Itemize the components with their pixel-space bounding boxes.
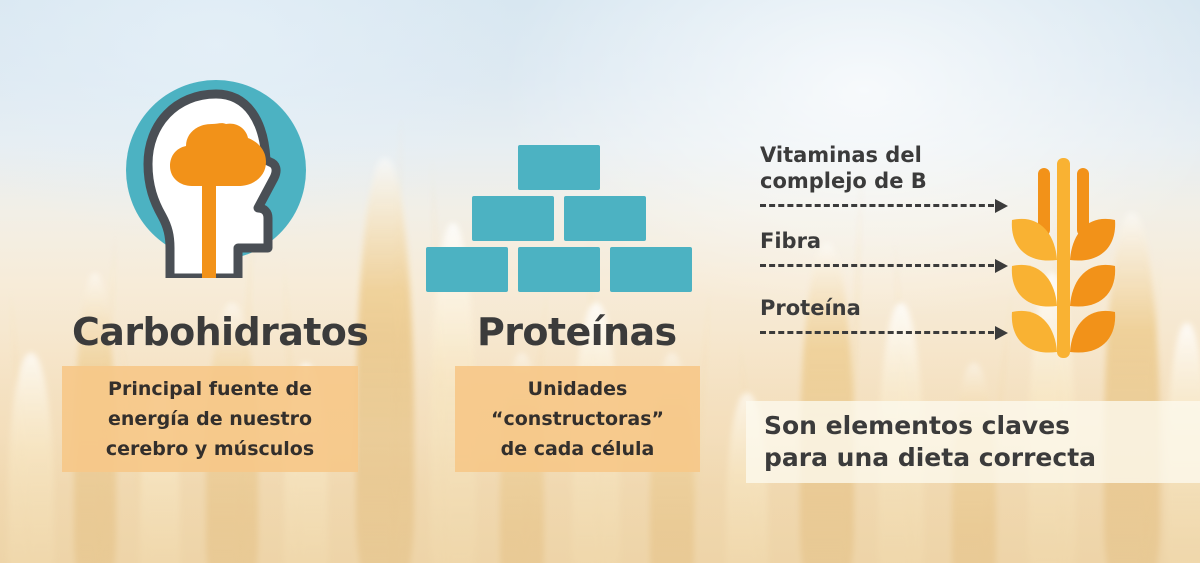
brick xyxy=(564,196,646,241)
brick xyxy=(518,247,600,292)
dashed-arrow-icon xyxy=(760,326,1008,338)
statement-line: para una dieta correcta xyxy=(764,442,1200,474)
proteinas-caption: Unidades “constructoras” de cada célula xyxy=(455,366,700,472)
nutrient-label: Fibra xyxy=(760,228,1008,254)
caption-line: cerebro y músculos xyxy=(106,434,314,464)
nutrient-row-proteina: Proteína xyxy=(760,295,1008,338)
infographic-canvas: Carbohidratos Principal fuente de energí… xyxy=(0,0,1200,563)
proteinas-title: Proteínas xyxy=(477,310,677,354)
dashed-arrow-icon xyxy=(760,199,1008,211)
carbohidratos-title: Carbohidratos xyxy=(72,310,368,354)
nutrient-row-vitaminas: Vitaminas del complejo de B xyxy=(760,142,1008,211)
head-brain-icon xyxy=(116,78,316,278)
wheat-stalk-icon xyxy=(1008,140,1120,358)
caption-line: Unidades xyxy=(528,374,628,404)
caption-line: “constructoras” xyxy=(491,404,664,434)
nutrient-label: complejo de B xyxy=(760,168,1008,194)
carbohidratos-caption: Principal fuente de energía de nuestro c… xyxy=(62,366,358,472)
nutrient-row-fibra: Fibra xyxy=(760,228,1008,271)
brick xyxy=(426,247,508,292)
caption-line: de cada célula xyxy=(501,434,655,464)
nutrient-label: Proteína xyxy=(760,295,1008,321)
statement-line: Son elementos claves xyxy=(764,410,1200,442)
caption-line: energía de nuestro xyxy=(108,404,312,434)
brick xyxy=(610,247,692,292)
statement-box: Son elementos claves para una dieta corr… xyxy=(746,401,1200,483)
nutrient-label: Vitaminas del xyxy=(760,142,1008,168)
dashed-arrow-icon xyxy=(760,259,1008,271)
caption-line: Principal fuente de xyxy=(108,374,312,404)
brick xyxy=(518,145,600,190)
brick-pyramid-icon xyxy=(455,145,670,290)
brick xyxy=(472,196,554,241)
